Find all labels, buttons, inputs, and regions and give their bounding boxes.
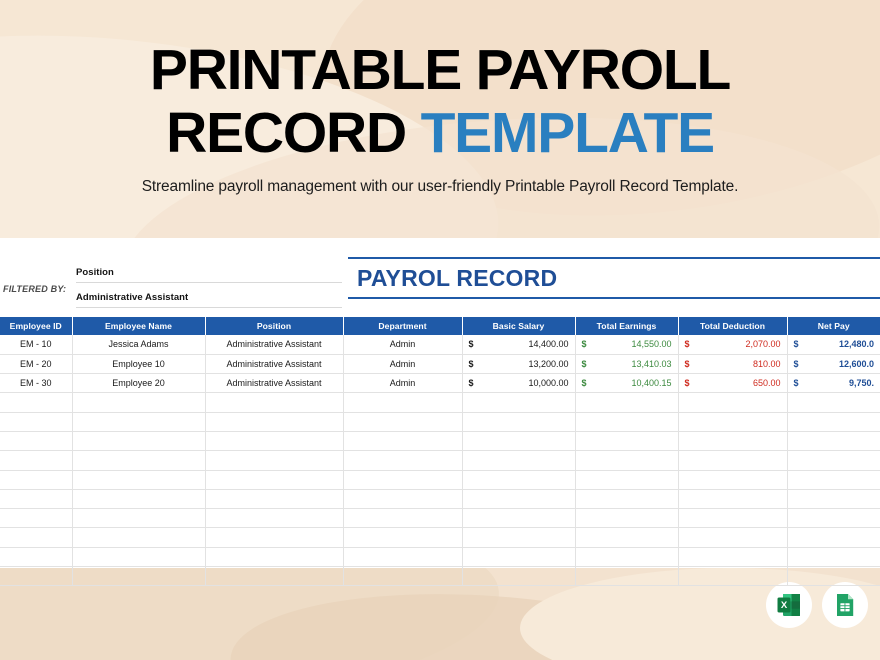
cell-empty[interactable] <box>72 412 205 431</box>
cell-total-deduction[interactable]: $810.00 <box>678 354 787 373</box>
google-sheets-button[interactable] <box>822 582 868 628</box>
cell-empty[interactable] <box>205 470 343 489</box>
cell-value: 12,480.0 <box>839 339 874 349</box>
cell-position[interactable]: Administrative Assistant <box>205 335 343 354</box>
filtered-by-label: FILTERED BY: <box>3 284 66 294</box>
google-sheets-icon <box>831 591 859 619</box>
cell-empty[interactable] <box>343 393 462 412</box>
column-header-total-deduction[interactable]: Total Deduction <box>678 317 787 335</box>
cell-empty[interactable] <box>575 489 678 508</box>
cell-basic-salary[interactable]: $14,400.00 <box>462 335 575 354</box>
payroll-template-page: PRINTABLE PAYROLL RECORD TEMPLATE Stream… <box>0 0 880 660</box>
cell-empty[interactable] <box>205 489 343 508</box>
cell-empty[interactable] <box>0 412 72 431</box>
cell-empty[interactable] <box>575 412 678 431</box>
column-header-department[interactable]: Department <box>343 317 462 335</box>
title-line-2: RECORD TEMPLATE <box>0 105 880 162</box>
cell-empty[interactable] <box>462 393 575 412</box>
cell-empty[interactable] <box>462 489 575 508</box>
cell-empty[interactable] <box>462 567 575 586</box>
cell-employee-name[interactable]: Employee 20 <box>72 374 205 393</box>
cell-empty[interactable] <box>575 451 678 470</box>
currency-symbol: $ <box>794 378 799 388</box>
column-header-employee-name[interactable]: Employee Name <box>72 317 205 335</box>
title-word-record: RECORD <box>166 101 420 165</box>
cell-value: 650.00 <box>753 378 781 388</box>
table-row-empty[interactable] <box>0 509 880 528</box>
cell-net-pay[interactable]: $9,750. <box>787 374 880 393</box>
cell-empty[interactable] <box>787 509 880 528</box>
title-line-1: PRINTABLE PAYROLL <box>0 42 880 99</box>
cell-value: 810.00 <box>753 359 781 369</box>
table-row-empty[interactable] <box>0 489 880 508</box>
svg-text:X: X <box>781 600 788 611</box>
page-subtitle: Streamline payroll management with our u… <box>0 178 880 196</box>
cell-empty[interactable] <box>343 509 462 528</box>
record-heading-banner: PAYROL RECORD <box>348 257 880 299</box>
table-row-empty[interactable] <box>0 567 880 586</box>
currency-symbol: $ <box>685 359 690 369</box>
cell-empty[interactable] <box>205 509 343 528</box>
cell-empty[interactable] <box>205 431 343 450</box>
table-row[interactable]: EM - 10Jessica AdamsAdministrative Assis… <box>0 335 880 354</box>
title-word-template: TEMPLATE <box>421 101 714 165</box>
cell-empty[interactable] <box>72 567 205 586</box>
spreadsheet-panel: FILTERED BY: Position Administrative Ass… <box>0 238 880 568</box>
table-row-empty[interactable] <box>0 528 880 547</box>
cell-value: 14,400.00 <box>528 339 568 349</box>
cell-net-pay[interactable]: $12,600.0 <box>787 354 880 373</box>
cell-empty[interactable] <box>462 528 575 547</box>
cell-empty[interactable] <box>343 489 462 508</box>
cell-empty[interactable] <box>787 489 880 508</box>
cell-empty[interactable] <box>72 547 205 566</box>
cell-empty[interactable] <box>575 470 678 489</box>
currency-symbol: $ <box>582 378 587 388</box>
cell-employee-id[interactable]: EM - 20 <box>0 354 72 373</box>
cell-empty[interactable] <box>787 528 880 547</box>
currency-symbol: $ <box>469 378 474 388</box>
cell-empty[interactable] <box>462 470 575 489</box>
column-header-position[interactable]: Position <box>205 317 343 335</box>
cell-employee-name[interactable]: Jessica Adams <box>72 335 205 354</box>
cell-total-earnings[interactable]: $13,410.03 <box>575 354 678 373</box>
table-row[interactable]: EM - 20Employee 10Administrative Assista… <box>0 354 880 373</box>
cell-empty[interactable] <box>343 528 462 547</box>
currency-symbol: $ <box>469 339 474 349</box>
cell-empty[interactable] <box>575 509 678 528</box>
column-header-employee-id[interactable]: Employee ID <box>0 317 72 335</box>
cell-empty[interactable] <box>462 509 575 528</box>
currency-symbol: $ <box>794 339 799 349</box>
cell-empty[interactable] <box>462 451 575 470</box>
table-row-empty[interactable] <box>0 470 880 489</box>
cell-empty[interactable] <box>343 451 462 470</box>
cell-empty[interactable] <box>205 412 343 431</box>
cell-empty[interactable] <box>0 451 72 470</box>
cell-value: 2,070.00 <box>745 339 780 349</box>
cell-empty[interactable] <box>575 547 678 566</box>
cell-empty[interactable] <box>575 528 678 547</box>
cell-value: 13,200.00 <box>528 359 568 369</box>
currency-symbol: $ <box>582 339 587 349</box>
cell-empty[interactable] <box>678 528 787 547</box>
cell-empty[interactable] <box>575 567 678 586</box>
currency-symbol: $ <box>469 359 474 369</box>
cell-empty[interactable] <box>72 470 205 489</box>
column-header-net-pay[interactable]: Net Pay <box>787 317 880 335</box>
cell-empty[interactable] <box>0 547 72 566</box>
cell-empty[interactable] <box>678 470 787 489</box>
cell-department[interactable]: Admin <box>343 354 462 373</box>
cell-value: 10,400.15 <box>631 378 671 388</box>
cell-empty[interactable] <box>205 393 343 412</box>
cell-empty[interactable] <box>462 547 575 566</box>
cell-empty[interactable] <box>678 393 787 412</box>
cell-empty[interactable] <box>343 547 462 566</box>
table-row-empty[interactable] <box>0 412 880 431</box>
cell-empty[interactable] <box>575 431 678 450</box>
cell-value: 12,600.0 <box>839 359 874 369</box>
cell-empty[interactable] <box>205 528 343 547</box>
cell-empty[interactable] <box>787 567 880 586</box>
cell-value: 10,000.00 <box>528 378 568 388</box>
cell-empty[interactable] <box>343 470 462 489</box>
filter-fields: Position Administrative Assistant <box>76 264 342 308</box>
cell-empty[interactable] <box>678 412 787 431</box>
cell-department[interactable]: Admin <box>343 374 462 393</box>
cell-empty[interactable] <box>787 547 880 566</box>
currency-symbol: $ <box>685 339 690 349</box>
cell-empty[interactable] <box>343 567 462 586</box>
cell-empty[interactable] <box>787 451 880 470</box>
cell-empty[interactable] <box>678 547 787 566</box>
cell-total-deduction[interactable]: $2,070.00 <box>678 335 787 354</box>
cell-empty[interactable] <box>462 412 575 431</box>
table-row-empty[interactable] <box>0 393 880 412</box>
cell-empty[interactable] <box>787 412 880 431</box>
cell-empty[interactable] <box>205 451 343 470</box>
cell-empty[interactable] <box>0 431 72 450</box>
excel-icon: X <box>775 591 803 619</box>
column-header-basic-salary[interactable]: Basic Salary <box>462 317 575 335</box>
cell-empty[interactable] <box>0 393 72 412</box>
cell-empty[interactable] <box>343 431 462 450</box>
table-header-row: Employee ID Employee Name Position Depar… <box>0 317 880 335</box>
hero-section: PRINTABLE PAYROLL RECORD TEMPLATE Stream… <box>0 0 880 238</box>
excel-button[interactable]: X <box>766 582 812 628</box>
cell-empty[interactable] <box>72 509 205 528</box>
cell-employee-name[interactable]: Employee 10 <box>72 354 205 373</box>
cell-empty[interactable] <box>205 547 343 566</box>
table-row[interactable]: EM - 30Employee 20Administrative Assista… <box>0 374 880 393</box>
cell-basic-salary[interactable]: $13,200.00 <box>462 354 575 373</box>
currency-symbol: $ <box>685 378 690 388</box>
cell-empty[interactable] <box>678 431 787 450</box>
cell-empty[interactable] <box>72 489 205 508</box>
export-icons: X <box>766 582 868 628</box>
cell-empty[interactable] <box>0 489 72 508</box>
page-title: PRINTABLE PAYROLL RECORD TEMPLATE <box>0 42 880 162</box>
cell-empty[interactable] <box>787 431 880 450</box>
cell-empty[interactable] <box>678 451 787 470</box>
currency-symbol: $ <box>582 359 587 369</box>
cell-position[interactable]: Administrative Assistant <box>205 354 343 373</box>
payroll-table: Employee ID Employee Name Position Depar… <box>0 317 880 586</box>
cell-empty[interactable] <box>462 431 575 450</box>
cell-empty[interactable] <box>343 412 462 431</box>
cell-empty[interactable] <box>0 528 72 547</box>
cell-employee-id[interactable]: EM - 10 <box>0 335 72 354</box>
table-body: EM - 10Jessica AdamsAdministrative Assis… <box>0 335 880 586</box>
cell-empty[interactable] <box>72 451 205 470</box>
cell-empty[interactable] <box>678 567 787 586</box>
table-row-empty[interactable] <box>0 451 880 470</box>
currency-symbol: $ <box>794 359 799 369</box>
cell-position[interactable]: Administrative Assistant <box>205 374 343 393</box>
cell-empty[interactable] <box>72 431 205 450</box>
filter-field-value[interactable]: Administrative Assistant <box>76 289 342 308</box>
cell-value: 14,550.00 <box>631 339 671 349</box>
cell-empty[interactable] <box>72 528 205 547</box>
cell-total-earnings[interactable]: $10,400.15 <box>575 374 678 393</box>
cell-total-earnings[interactable]: $14,550.00 <box>575 335 678 354</box>
table-row-empty[interactable] <box>0 547 880 566</box>
cell-employee-id[interactable]: EM - 30 <box>0 374 72 393</box>
cell-empty[interactable] <box>205 567 343 586</box>
cell-empty[interactable] <box>72 393 205 412</box>
cell-basic-salary[interactable]: $10,000.00 <box>462 374 575 393</box>
cell-department[interactable]: Admin <box>343 335 462 354</box>
cell-empty[interactable] <box>678 489 787 508</box>
cell-empty[interactable] <box>0 567 72 586</box>
cell-empty[interactable] <box>787 393 880 412</box>
cell-empty[interactable] <box>0 509 72 528</box>
cell-total-deduction[interactable]: $650.00 <box>678 374 787 393</box>
filter-field-label[interactable]: Position <box>76 264 342 283</box>
cell-value: 13,410.03 <box>631 359 671 369</box>
column-header-total-earnings[interactable]: Total Earnings <box>575 317 678 335</box>
cell-empty[interactable] <box>0 470 72 489</box>
cell-value: 9,750. <box>849 378 874 388</box>
cell-net-pay[interactable]: $12,480.0 <box>787 335 880 354</box>
cell-empty[interactable] <box>678 509 787 528</box>
record-heading-text: PAYROL RECORD <box>348 265 557 292</box>
cell-empty[interactable] <box>575 393 678 412</box>
cell-empty[interactable] <box>787 470 880 489</box>
table-row-empty[interactable] <box>0 431 880 450</box>
